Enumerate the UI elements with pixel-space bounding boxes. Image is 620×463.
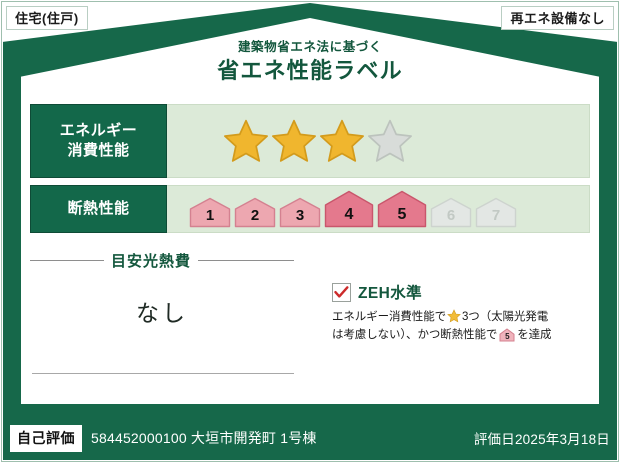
insulation-level-number: 1 — [206, 208, 214, 228]
zeh-description: エネルギー消費性能で3つ（太陽光発電は考慮しない）、かつ断熱性能で5を達成 — [332, 309, 580, 349]
building-type-tag: 住宅(住戸) — [6, 6, 88, 30]
energy-label-line1: エネルギー — [60, 121, 138, 141]
zeh-desc-part1: エネルギー消費性能で — [332, 311, 446, 323]
insulation-level-3: 3 — [279, 197, 321, 228]
label-footer: 自己評価 584452000100 大垣市開発町 1号棟 評価日2025年3月1… — [10, 425, 610, 451]
check-icon — [334, 286, 349, 299]
cost-bottom-divider — [32, 373, 294, 374]
insulation-level-5: 5 — [377, 190, 427, 228]
zeh-desc-star-count: 3つ（太陽光発電 — [462, 311, 548, 323]
insulation-performance-label: 断熱性能 — [30, 185, 167, 233]
zeh-desc-part3: を達成 — [517, 329, 551, 341]
zeh-desc-part2: は考慮しない）、かつ断熱性能で — [332, 329, 497, 341]
energy-label-line2: 消費性能 — [67, 141, 129, 161]
star-icon-filled — [223, 118, 269, 164]
insulation-level-6: 6 — [430, 197, 472, 228]
cost-rule-left — [30, 260, 104, 261]
insulation-performance-row: 断熱性能 1234567 — [30, 185, 590, 233]
cost-rule-right — [198, 260, 294, 261]
title-subtitle: 建築物省エネ法に基づく — [0, 40, 620, 55]
star-icon-filled — [271, 118, 317, 164]
renewable-equipment-tag: 再エネ設備なし — [501, 6, 614, 30]
label-title-block: 建築物省エネ法に基づく 省エネ性能ラベル — [0, 40, 620, 86]
house-icon-number: 5 — [499, 331, 515, 343]
insulation-level-number: 4 — [345, 207, 354, 228]
star-icon-filled — [319, 118, 365, 164]
insulation-level-4: 4 — [324, 190, 374, 228]
insulation-label-line1: 断熱性能 — [67, 199, 129, 219]
zeh-title: ZEH水準 — [358, 281, 422, 303]
energy-consumption-row: エネルギー 消費性能 — [30, 104, 590, 178]
energy-consumption-rating — [167, 104, 590, 178]
insulation-level-number: 5 — [398, 207, 407, 228]
cost-header-title: 目安光熱費 — [111, 250, 191, 271]
evaluation-date: 評価日2025年3月18日 — [474, 428, 610, 448]
house-icon-inline: 5 — [499, 328, 515, 349]
insulation-level-number: 2 — [251, 208, 259, 228]
insulation-level-1: 1 — [189, 197, 231, 228]
self-evaluation-badge: 自己評価 — [10, 425, 82, 452]
star-icon-empty — [367, 118, 413, 164]
registration-id-address: 584452000100 大垣市開発町 1号棟 — [91, 428, 317, 448]
zeh-checkbox[interactable] — [332, 283, 351, 302]
zeh-standard-block: ZEH水準 エネルギー消費性能で3つ（太陽光発電は考慮しない）、かつ断熱性能で5… — [332, 281, 580, 349]
insulation-level-2: 2 — [234, 197, 276, 228]
energy-performance-label: 住宅(住戸) 再エネ設備なし 建築物省エネ法に基づく 省エネ性能ラベル エネルギ… — [0, 0, 620, 463]
insulation-level-7: 7 — [475, 197, 517, 228]
title-main: 省エネ性能ラベル — [0, 57, 620, 86]
zeh-heading: ZEH水準 — [332, 281, 580, 303]
estimated-utility-cost-header: 目安光熱費 — [30, 250, 294, 271]
insulation-level-number: 7 — [492, 208, 500, 228]
star-rating — [223, 118, 413, 164]
energy-consumption-label: エネルギー 消費性能 — [30, 104, 167, 178]
insulation-performance-rating: 1234567 — [167, 185, 590, 233]
insulation-level-number: 6 — [447, 208, 455, 228]
house-level-scale: 1234567 — [189, 190, 517, 228]
metric-rows: エネルギー 消費性能 断熱性能 1234567 — [30, 104, 590, 240]
estimated-utility-cost-value: なし — [30, 294, 294, 328]
insulation-level-number: 3 — [296, 208, 304, 228]
star-icon-inline — [447, 309, 461, 323]
